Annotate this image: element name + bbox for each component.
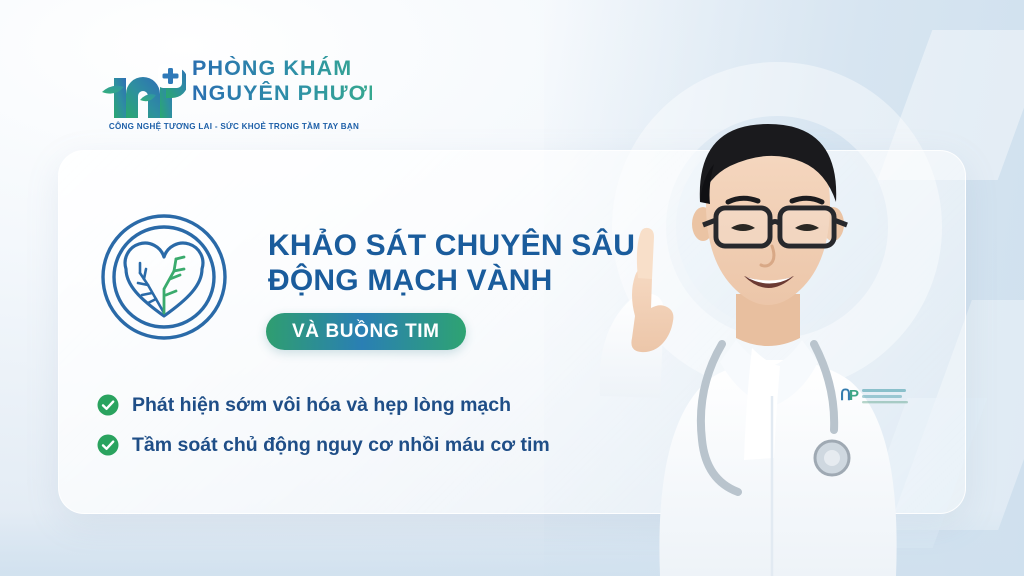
svg-text:P: P (849, 387, 859, 404)
clinic-logo: PHÒNG KHÁM NGUYÊN PHƯƠNG CÔNG NGHỆ TƯƠNG… (100, 52, 370, 142)
check-circle-icon (97, 394, 119, 416)
clinic-tagline: CÔNG NGHỆ TƯƠNG LAI - SỨC KHOẺ TRONG TẦM… (100, 122, 368, 131)
list-item-label: Phát hiện sớm vôi hóa và hẹp lòng mạch (132, 394, 511, 417)
clinic-name-line1: PHÒNG KHÁM (192, 56, 372, 81)
list-item: Tầm soát chủ động nguy cơ nhồi máu cơ ti… (97, 428, 550, 462)
feature-list: Phát hiện sớm vôi hóa và hẹp lòng mạch T… (97, 388, 550, 468)
highlight-pill-label: VÀ BUỒNG TIM (292, 321, 440, 343)
list-item: Phát hiện sớm vôi hóa và hẹp lòng mạch (97, 388, 550, 422)
np-coat-badge: Ո P (840, 387, 908, 404)
list-item-label: Tầm soát chủ động nguy cơ nhồi máu cơ ti… (132, 434, 550, 457)
check-circle-icon (97, 434, 119, 456)
doctor-portrait: Ո P (540, 96, 990, 576)
clinic-name-line2: NGUYÊN PHƯƠNG (192, 81, 372, 106)
heart-artery-circle-icon (100, 213, 228, 341)
clinic-name: PHÒNG KHÁM NGUYÊN PHƯƠNG (192, 56, 372, 106)
np-monogram-logo (100, 52, 186, 124)
highlight-pill-badge[interactable]: VÀ BUỒNG TIM (266, 313, 466, 350)
